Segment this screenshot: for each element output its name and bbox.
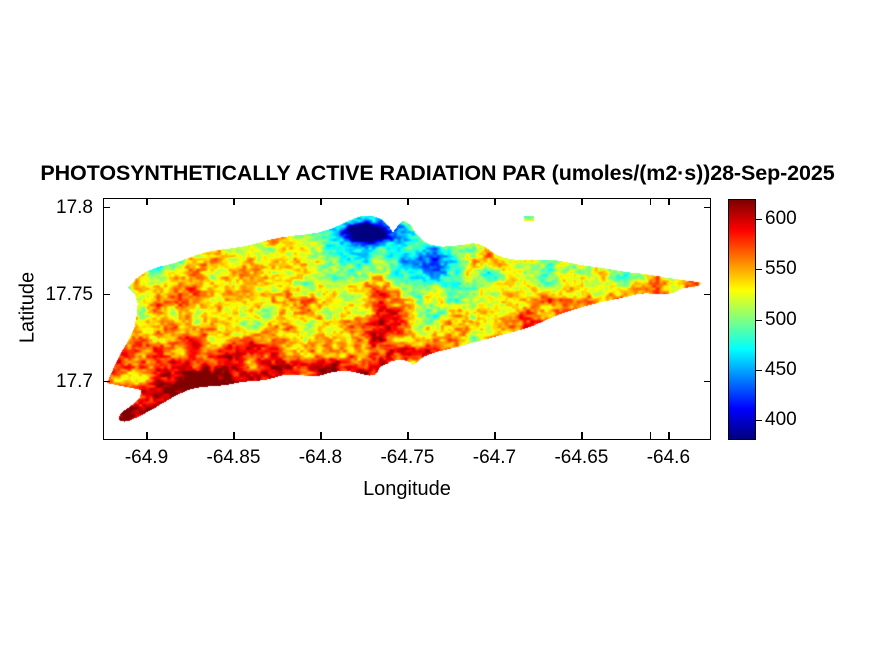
colorbar-tick-label: 450 — [765, 359, 797, 381]
x-tick-mark — [668, 432, 669, 439]
x-tick-mark — [494, 432, 495, 439]
x-tick-mark — [494, 198, 495, 205]
chart-title: PHOTOSYNTHETICALLY ACTIVE RADIATION PAR … — [0, 161, 875, 185]
y-tick-mark — [103, 207, 110, 208]
colorbar-tick-label: 400 — [765, 409, 797, 431]
colorbar-tick-mark — [756, 219, 762, 220]
colorbar-tick-label: 500 — [765, 309, 797, 331]
colorbar-tick-mark — [756, 370, 762, 371]
colorbar-gradient — [729, 200, 755, 439]
colorbar — [728, 199, 756, 440]
y-tick-label: 17.8 — [0, 197, 93, 219]
colorbar-tick-label: 600 — [765, 208, 797, 230]
x-tick-mark — [581, 198, 582, 205]
x-tick-mark — [581, 432, 582, 439]
y-tick-label: 17.7 — [0, 371, 93, 393]
x-tick-mark — [320, 432, 321, 439]
x-axis-label: Longitude — [103, 478, 711, 501]
colorbar-tick-mark — [756, 320, 762, 321]
x-tick-mark — [146, 432, 147, 439]
y-tick-mark — [704, 294, 711, 295]
x-tick-mark — [668, 198, 669, 205]
colorbar-tick-mark — [756, 269, 762, 270]
x-tick-mark — [233, 432, 234, 439]
y-tick-mark — [704, 381, 711, 382]
x-tick-label: -64.6 — [608, 447, 728, 469]
y-tick-label: 17.75 — [0, 284, 93, 306]
x-tick-mark — [233, 198, 234, 205]
x-tick-mark — [407, 198, 408, 205]
x-tick-mark — [650, 198, 651, 205]
colorbar-tick-label: 550 — [765, 258, 797, 280]
x-tick-mark — [650, 432, 651, 439]
x-tick-mark — [146, 198, 147, 205]
y-tick-mark — [103, 294, 110, 295]
colorbar-tick-mark — [756, 420, 762, 421]
x-tick-mark — [407, 432, 408, 439]
x-tick-mark — [320, 198, 321, 205]
map-axes — [103, 198, 711, 440]
y-tick-mark — [103, 381, 110, 382]
y-tick-mark — [704, 207, 711, 208]
par-heatmap-raster — [104, 199, 712, 441]
figure-canvas: PHOTOSYNTHETICALLY ACTIVE RADIATION PAR … — [0, 0, 875, 656]
y-axis-label: Latitude — [17, 218, 40, 398]
